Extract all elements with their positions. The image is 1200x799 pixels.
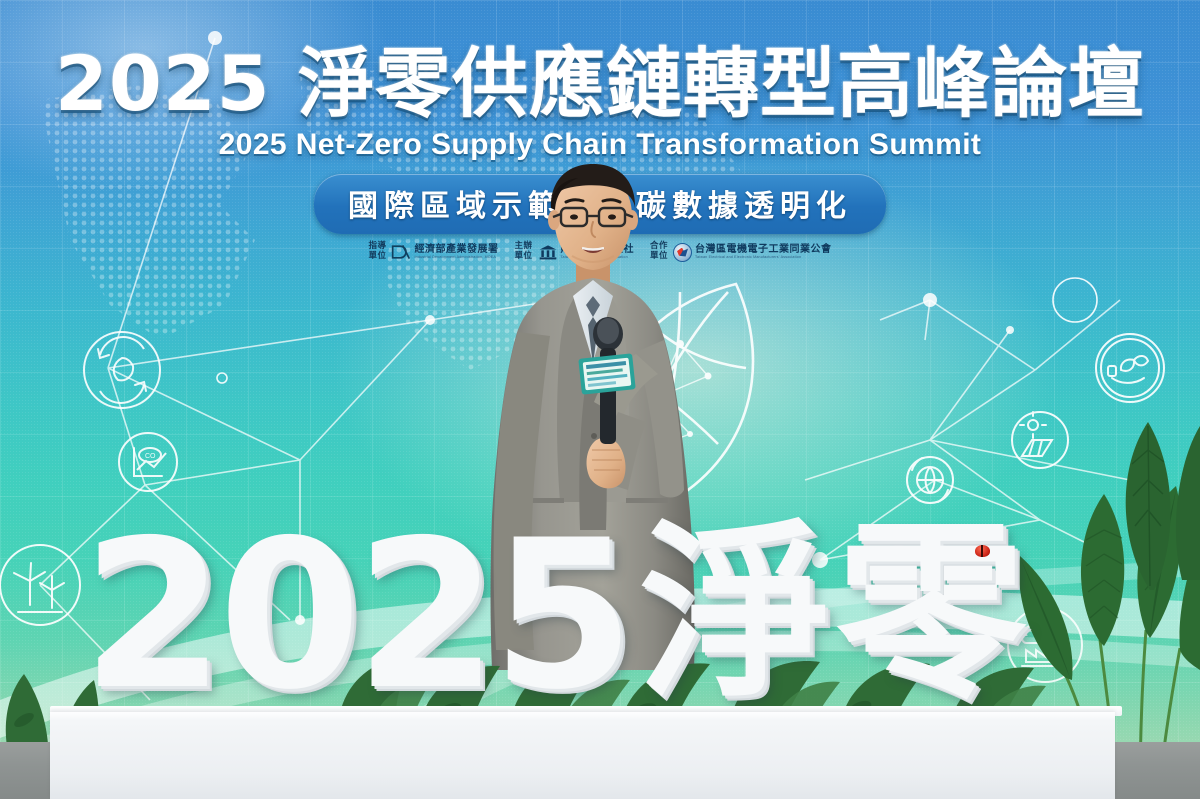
prop-netzero-chinese: 淨零 [640, 528, 1032, 699]
foreground-plant-far-right [1090, 330, 1200, 590]
prop-supply-chain-chinese: 供應鏈 [60, 768, 447, 799]
sponsor-role-label: 指導 單位 [368, 242, 386, 261]
ladybug-icon [975, 545, 990, 557]
prop-year-2025: 2025 [82, 524, 629, 709]
event-photo: CO [0, 0, 1200, 799]
ida-logo-icon [391, 243, 411, 261]
title-chinese: 2025 淨零供應鏈轉型高峰論壇 [0, 0, 1200, 122]
